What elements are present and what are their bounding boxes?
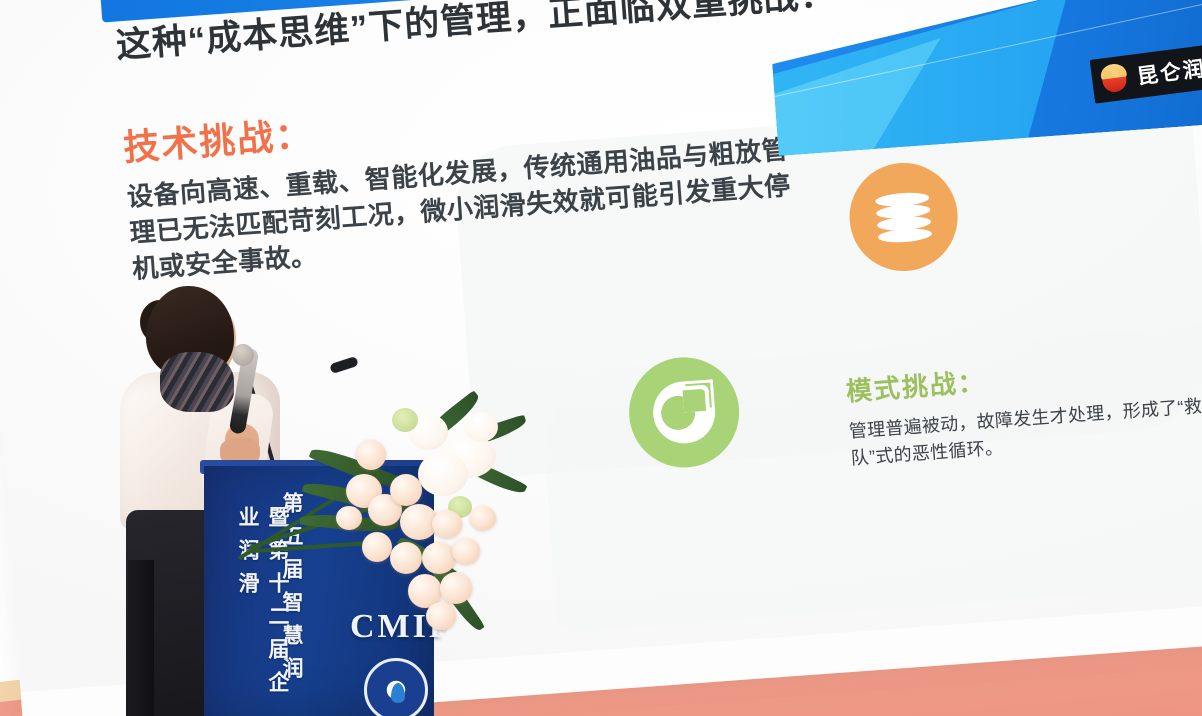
floral-arrangement [300, 386, 540, 666]
kunlun-brand-label: 昆仑润滑 [1135, 49, 1202, 91]
database-stack-glyph [875, 191, 932, 243]
pie-chart-glyph [651, 379, 717, 445]
conference-photo: 挑战 这种“成本思维”下的管理，正面临双重挑战： 技术挑战： 设备向高速、重载、… [0, 0, 1202, 716]
technical-challenge-heading: 技术挑战： [121, 106, 314, 172]
kunlun-flame-icon [1098, 62, 1132, 96]
slide-lead-line: 这种“成本思维”下的管理，正面临双重挑战： [114, 0, 837, 69]
gear-emblem-icon [364, 658, 428, 716]
stage-pole [128, 560, 154, 716]
speaker-scarf [160, 352, 234, 412]
